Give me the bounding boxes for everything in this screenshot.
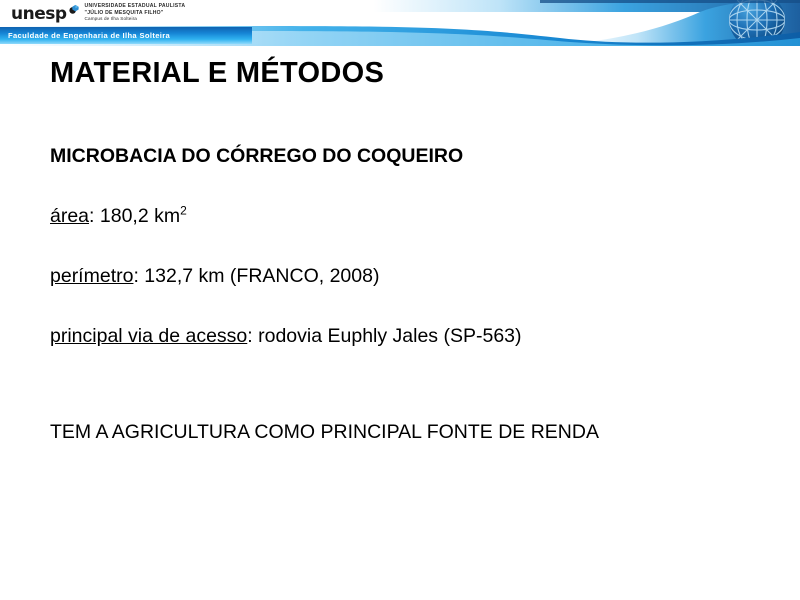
slide-title: MATERIAL E MÉTODOS <box>50 57 384 90</box>
fact-label-perimetro: perímetro <box>50 265 133 287</box>
paragraph-gap <box>50 348 770 384</box>
fact-line-area: área: 180,2 km2 <box>50 204 770 228</box>
fact-value-acesso: rodovia Euphly Jales (SP-563) <box>258 325 521 347</box>
spacer <box>50 228 770 264</box>
fact-separator-perimetro: : <box>133 265 144 287</box>
fact-separator-area: : <box>89 205 100 227</box>
unesp-logo: unesp UNIVERSIDADE ESTADUAL PAULISTA "JÚ… <box>11 3 181 26</box>
slide-header: unesp UNIVERSIDADE ESTADUAL PAULISTA "JÚ… <box>0 0 800 46</box>
presentation-slide: unesp UNIVERSIDADE ESTADUAL PAULISTA "JÚ… <box>0 0 800 600</box>
spacer <box>50 288 770 324</box>
unesp-logo-text: UNIVERSIDADE ESTADUAL PAULISTA "JÚLIO DE… <box>85 4 186 22</box>
closing-statement: TEM A AGRICULTURA COMO PRINCIPAL FONTE D… <box>50 420 770 444</box>
faculty-name-label: Faculdade de Engenharia de Ilha Solteira <box>0 31 170 40</box>
fact-line-perimetro: perímetro: 132,7 km (FRANCO, 2008) <box>50 264 770 288</box>
fact-line-acesso: principal via de acesso: rodovia Euphly … <box>50 324 770 348</box>
slide-text-block: MICROBACIA DO CÓRREGO DO COQUEIRO área: … <box>50 144 770 444</box>
section-heading: MICROBACIA DO CÓRREGO DO COQUEIRO <box>50 144 770 168</box>
fact-label-area: área <box>50 205 89 227</box>
slide-body: MATERIAL E MÉTODOS MICROBACIA DO CÓRREGO… <box>0 46 800 600</box>
fact-value-area: 180,2 km <box>100 205 180 227</box>
unesp-diamond-icon <box>69 4 80 15</box>
fact-label-acesso: principal via de acesso <box>50 325 247 347</box>
unesp-motto-line: "JÚLIO DE MESQUITA FILHO" <box>85 11 186 16</box>
fact-value-perimetro: 132,7 km (FRANCO, 2008) <box>144 265 379 287</box>
unesp-wordmark: unesp <box>11 5 67 24</box>
fact-separator-acesso: : <box>247 325 258 347</box>
fact-superscript-area: 2 <box>180 204 187 218</box>
faculty-strip: Faculdade de Engenharia de Ilha Solteira <box>0 27 252 44</box>
unesp-university-line: UNIVERSIDADE ESTADUAL PAULISTA <box>85 4 186 9</box>
spacer <box>50 168 770 204</box>
unesp-campus-line: Campus de Ilha Solteira <box>85 17 186 22</box>
spacer <box>50 384 770 420</box>
